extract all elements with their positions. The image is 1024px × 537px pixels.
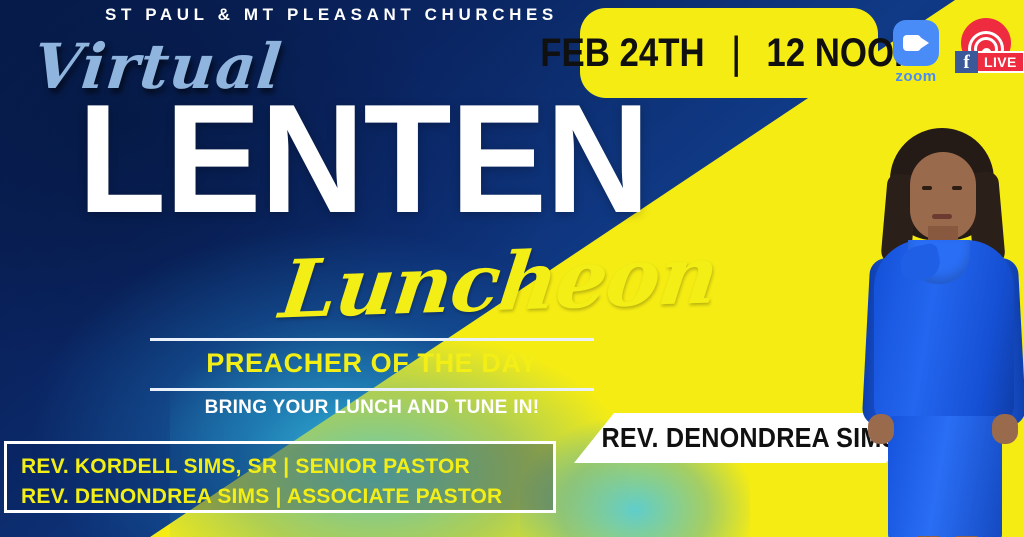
divider-rule-top xyxy=(150,338,594,341)
badge-separator: | xyxy=(724,28,747,78)
zoom-platform-logo: zoom xyxy=(885,20,947,85)
facebook-live-badges: f LIVE xyxy=(955,51,1024,73)
video-camera-icon xyxy=(903,35,929,51)
pastor-name-senior: REV. KORDELL SIMS, SR | SENIOR PASTOR xyxy=(21,452,553,482)
photo-hand-right-shape xyxy=(992,414,1018,444)
zoom-label: zoom xyxy=(885,68,947,85)
pastor-name-associate: REV. DENONDREA SIMS | ASSOCIATE PASTOR xyxy=(21,482,553,512)
title-script-luncheon: Luncheon xyxy=(275,227,723,336)
photo-mouth-shape xyxy=(932,214,952,219)
divider-rule-bottom xyxy=(150,388,594,391)
facebook-f-icon: f xyxy=(955,51,978,73)
photo-skirt-shape xyxy=(888,416,1002,537)
speaker-name: REV. DENONDREA SIMS xyxy=(601,422,898,454)
page-title: LENTEN xyxy=(78,88,649,231)
zoom-icon xyxy=(893,20,939,66)
preacher-of-the-day-heading: PREACHER OF THE DAY xyxy=(150,348,594,379)
church-name-header: ST PAUL & MT PLEASANT CHURCHES xyxy=(105,5,558,25)
event-date: FEB 24TH xyxy=(540,31,704,76)
photo-hand-left-shape xyxy=(868,414,894,444)
speaker-photo xyxy=(862,128,1024,537)
camera-lens-shape xyxy=(920,37,929,49)
pastor-names-box: REV. KORDELL SIMS, SR | SENIOR PASTOR RE… xyxy=(4,441,556,513)
live-badge: LIVE xyxy=(978,51,1024,73)
lenten-luncheon-flyer: ST PAUL & MT PLEASANT CHURCHES Virtual L… xyxy=(0,0,1024,537)
camera-body-shape xyxy=(903,35,921,51)
date-time-badge: FEB 24TH | 12 NOON xyxy=(580,8,878,98)
photo-eye-left-shape xyxy=(922,186,932,190)
bring-lunch-subtext: BRING YOUR LUNCH AND TUNE IN! xyxy=(150,397,594,419)
photo-eye-right-shape xyxy=(952,186,962,190)
